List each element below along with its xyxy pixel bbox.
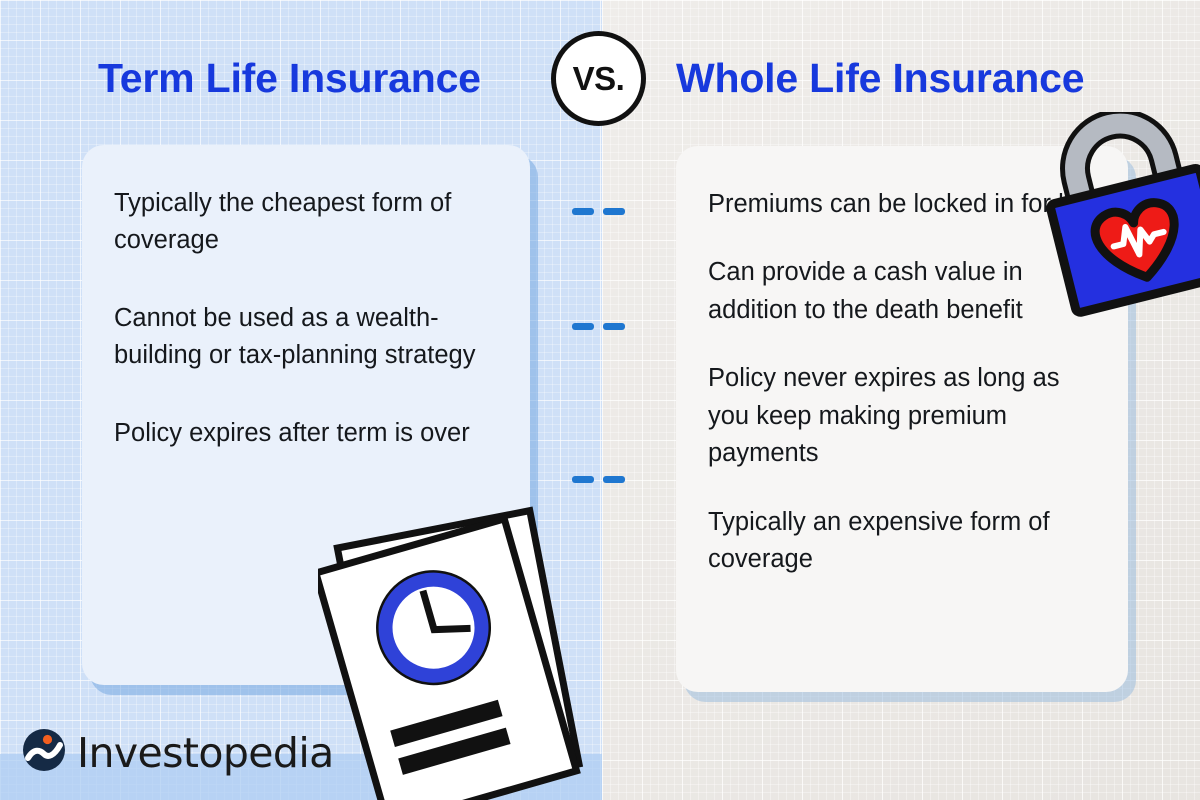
versus-badge: VS.: [551, 31, 646, 126]
investopedia-logo-mark-icon: [22, 728, 66, 777]
infographic-root: Term Life Insurance VS. Whole Life Insur…: [0, 0, 1200, 800]
list-item: Typically the cheapest form of coverage: [114, 185, 496, 260]
page-title-term-life: Term Life Insurance: [98, 55, 481, 102]
dash-segment: [603, 323, 625, 330]
dashed-connector-3: [572, 476, 625, 483]
dashed-connector-1: [572, 208, 625, 215]
page-title-whole-life: Whole Life Insurance: [676, 55, 1084, 102]
dash-segment: [603, 208, 625, 215]
list-item: Policy never expires as long as you keep…: [708, 360, 1094, 472]
dash-segment: [572, 476, 594, 483]
list-item: Policy expires after term is over: [114, 415, 496, 452]
investopedia-logo-text: Investopedia: [77, 729, 334, 777]
versus-label: VS.: [573, 60, 625, 98]
list-item: Premiums can be locked in for life: [708, 186, 1094, 223]
dashed-connector-2: [572, 323, 625, 330]
dash-segment: [572, 208, 594, 215]
list-item: Can provide a cash value in addition to …: [708, 254, 1094, 329]
list-item: Typically an expensive form of coverage: [708, 504, 1094, 579]
dash-segment: [572, 323, 594, 330]
documents-clock-icon: [318, 505, 598, 800]
investopedia-logo: Investopedia: [22, 728, 334, 777]
list-item: Cannot be used as a wealth-building or t…: [114, 300, 496, 375]
padlock-heart-icon: [1046, 112, 1200, 322]
dash-segment: [603, 476, 625, 483]
